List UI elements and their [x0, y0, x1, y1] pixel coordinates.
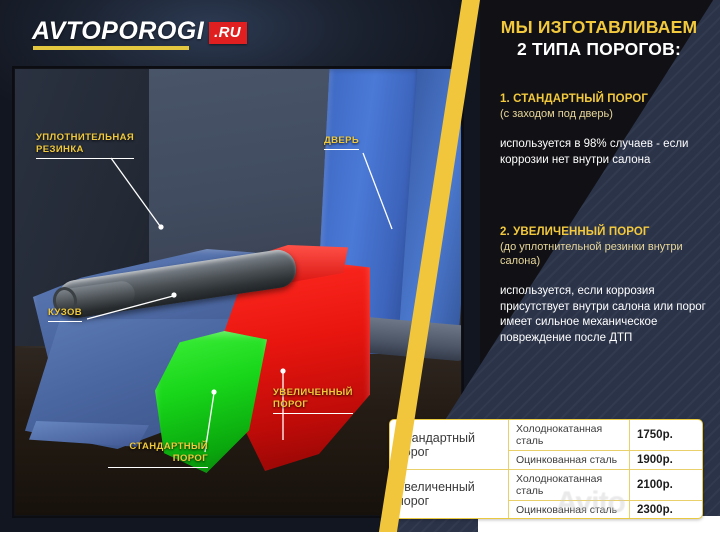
label-body-line1: КУЗОВ	[48, 307, 82, 322]
label-rubber-seal-line1: УПЛОТНИТЕЛЬНАЯ	[36, 132, 134, 143]
label-standard-sill: СТАНДАРТНЫЙ ПОРОГ	[108, 441, 208, 468]
label-enlarged-sill-line2: ПОРОГ	[273, 399, 353, 414]
block-enlarged-body: используется, если коррозия присутствует…	[500, 284, 716, 346]
block-standard-title: 1. СТАНДАРТНЫЙ ПОРОГ	[500, 92, 716, 107]
label-enlarged-sill-line1: УВЕЛИЧЕННЫЙ	[273, 387, 353, 398]
table-cell-type: Стандартный порог	[390, 420, 509, 470]
bottom-white-bar	[0, 532, 720, 538]
price-table-grid: Стандартный порог Холоднокатанная сталь …	[390, 420, 702, 519]
label-rubber-seal: УПЛОТНИТЕЛЬНАЯ РЕЗИНКА	[36, 132, 134, 159]
label-rubber-seal-line2: РЕЗИНКА	[36, 144, 134, 159]
table-cell-material: Оцинкованная сталь	[509, 451, 630, 470]
logo-wordmark: AVTOPOROGI	[32, 18, 204, 44]
label-body: КУЗОВ	[48, 307, 82, 322]
price-table: Стандартный порог Холоднокатанная сталь …	[389, 419, 703, 519]
block-enlarged-title: 2. УВЕЛИЧЕННЫЙ ПОРОГ	[500, 225, 716, 240]
block-standard: 1. СТАНДАРТНЫЙ ПОРОГ (с заходом под двер…	[500, 92, 716, 168]
logo-underline-bar	[33, 46, 189, 50]
block-enlarged: 2. УВЕЛИЧЕННЫЙ ПОРОГ (до уплотнительной …	[500, 225, 716, 346]
label-standard-sill-line1: СТАНДАРТНЫЙ	[129, 441, 208, 452]
table-row: Стандартный порог Холоднокатанная сталь …	[390, 420, 702, 451]
block-enlarged-subtitle: (до уплотнительной резинки внутри салона…	[500, 240, 716, 268]
table-cell-material: Холоднокатанная сталь	[509, 420, 630, 451]
heading-line-1: МЫ ИЗГОТАВЛИВАЕМ	[478, 16, 720, 38]
table-cell-material: Холоднокатанная сталь	[509, 470, 630, 501]
table-row: Увеличенный порог Холоднокатанная сталь …	[390, 470, 702, 501]
table-cell-price: 2300р.	[630, 501, 703, 520]
label-door: ДВЕРЬ	[324, 135, 359, 150]
site-logo[interactable]: AVTOPOROGI .RU	[32, 18, 247, 44]
poster-root: AVTOPOROGI .RU	[0, 0, 720, 538]
block-standard-body: используется в 98% случаев - если корроз…	[500, 137, 716, 168]
logo-tld-badge: .RU	[209, 22, 247, 44]
poster-heading: МЫ ИЗГОТАВЛИВАЕМ 2 ТИПА ПОРОГОВ:	[478, 16, 720, 60]
block-standard-subtitle: (с заходом под дверь)	[500, 107, 716, 121]
table-cell-type: Увеличенный порог	[390, 470, 509, 520]
table-cell-price: 2100р.	[630, 470, 703, 501]
heading-line-2: 2 ТИПА ПОРОГОВ:	[478, 38, 720, 60]
label-enlarged-sill: УВЕЛИЧЕННЫЙ ПОРОГ	[273, 387, 353, 414]
table-cell-price: 1750р.	[630, 420, 703, 451]
table-cell-material: Оцинкованная сталь	[509, 501, 630, 520]
table-cell-price: 1900р.	[630, 451, 703, 470]
label-door-line1: ДВЕРЬ	[324, 135, 359, 150]
label-standard-sill-line2: ПОРОГ	[108, 453, 208, 468]
